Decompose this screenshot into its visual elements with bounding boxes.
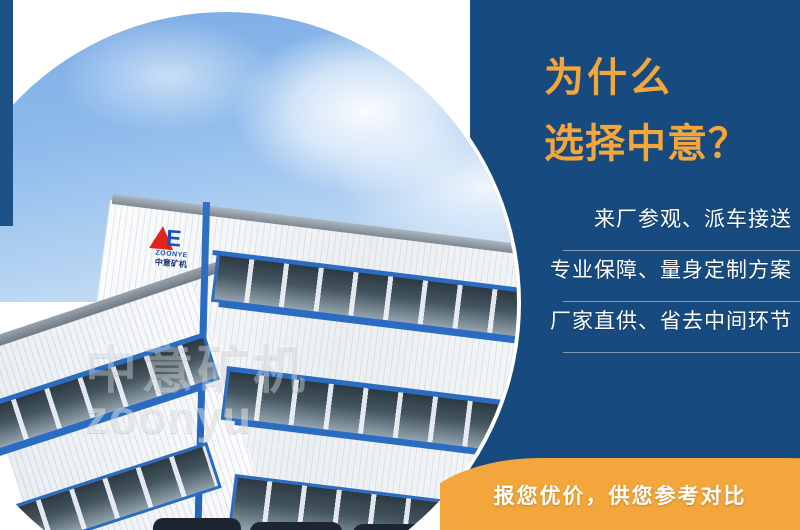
car [345, 524, 449, 530]
car-window [353, 524, 440, 530]
feature-item: 来厂参观、派车接送 [520, 200, 800, 251]
logo-letter: E [165, 226, 181, 250]
headline: 为什么 选择中意？ [544, 45, 749, 177]
car [145, 518, 249, 530]
headline-line-2: 选择中意？ [544, 111, 749, 177]
car-window [153, 518, 240, 530]
feature-label: 来厂参观、派车接送 [594, 203, 792, 233]
feature-label: 厂家直供、省去中间环节 [550, 305, 792, 335]
watermark-latin: zoonyu [85, 390, 252, 444]
car-window [250, 522, 342, 530]
feature-list: 来厂参观、派车接送 专业保障、量身定制方案 厂家直供、省去中间环节 [520, 200, 800, 353]
feature-label: 专业保障、量身定制方案 [550, 254, 792, 284]
zoonye-wall-logo: E ZOONYE 中意矿机 [137, 222, 207, 278]
headline-line-1: 为什么 [544, 45, 749, 111]
feature-divider [563, 352, 800, 353]
feature-item: 专业保障、量身定制方案 [520, 251, 800, 302]
car [241, 522, 351, 530]
bottom-cta-label: 报您优价，供您参考对比 [440, 480, 800, 510]
promo-banner: E ZOONYE 中意矿机 [0, 0, 800, 530]
feature-item: 厂家直供、省去中间环节 [520, 302, 800, 353]
left-accent-bar [0, 0, 13, 226]
bottom-cta-banner[interactable]: 报您优价，供您参考对比 [440, 452, 800, 530]
text-column: 为什么 选择中意？ 来厂参观、派车接送 专业保障、量身定制方案 厂家直供、省去中… [520, 0, 800, 530]
